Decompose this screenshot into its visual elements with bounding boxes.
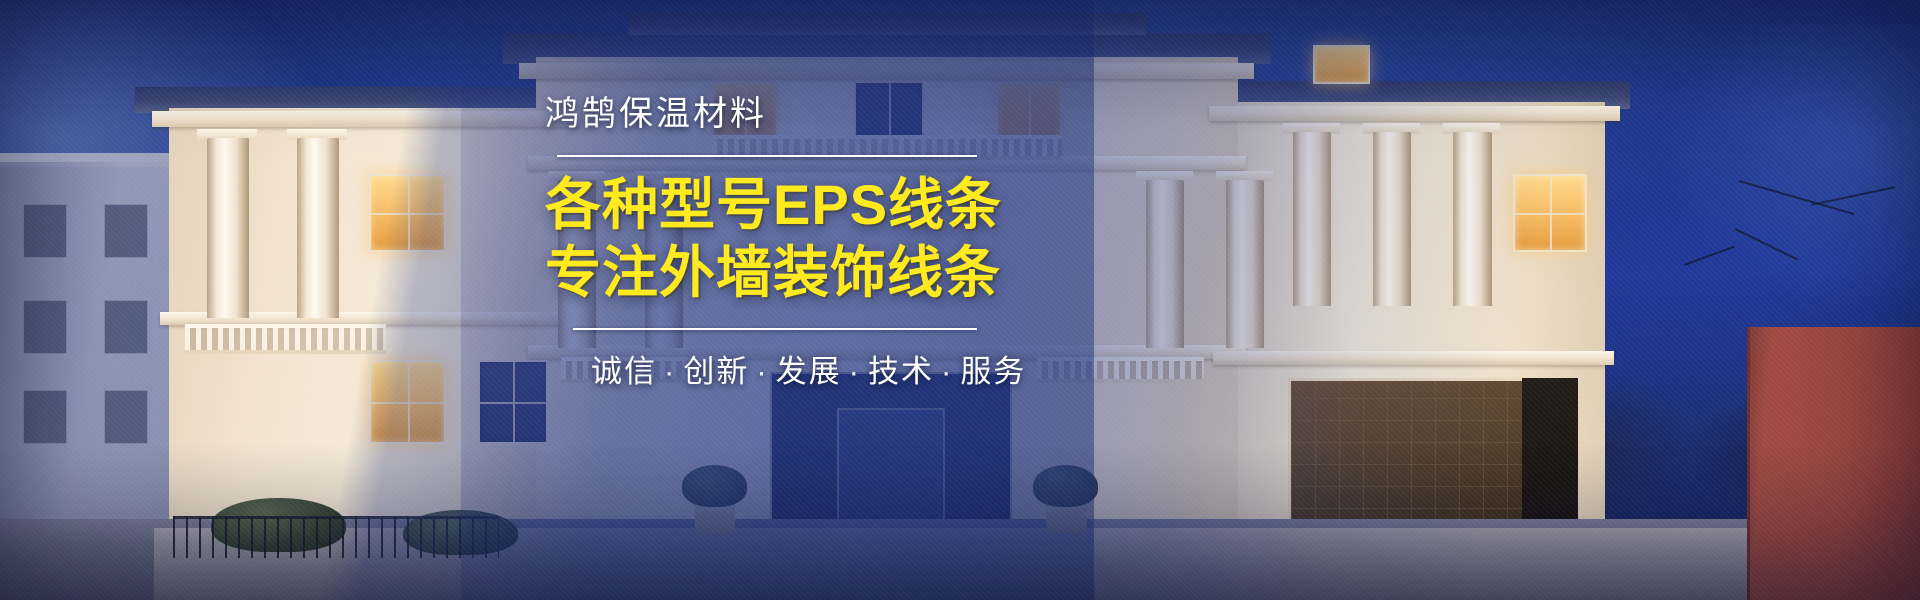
tagline-separator: ·: [756, 354, 768, 389]
tagline-separator: ·: [849, 354, 861, 389]
tagline: 诚信·创新·发展·技术·服务: [591, 346, 1025, 391]
headline-line-1: 各种型号EPS线条: [545, 171, 1025, 238]
tagline-item: 创新: [683, 354, 749, 389]
promo-banner: 鸿鹄保温材料 各种型号EPS线条 专注外墙装饰线条 诚信·创新·发展·技术·服务: [0, 0, 1920, 600]
tagline-item: 诚信: [591, 354, 657, 389]
tagline-separator: ·: [941, 354, 953, 389]
tagline-item: 服务: [960, 354, 1026, 389]
divider-top: [557, 155, 977, 157]
banner-copy: 鸿鹄保温材料 各种型号EPS线条 专注外墙装饰线条 诚信·创新·发展·技术·服务: [545, 96, 1025, 391]
tagline-item: 发展: [776, 354, 842, 389]
brand-subtitle: 鸿鹄保温材料: [545, 96, 1025, 133]
tagline-separator: ·: [664, 354, 676, 389]
tagline-item: 技术: [868, 354, 934, 389]
divider-bottom: [573, 328, 977, 330]
headline-line-2: 专注外墙装饰线条: [545, 239, 1025, 306]
